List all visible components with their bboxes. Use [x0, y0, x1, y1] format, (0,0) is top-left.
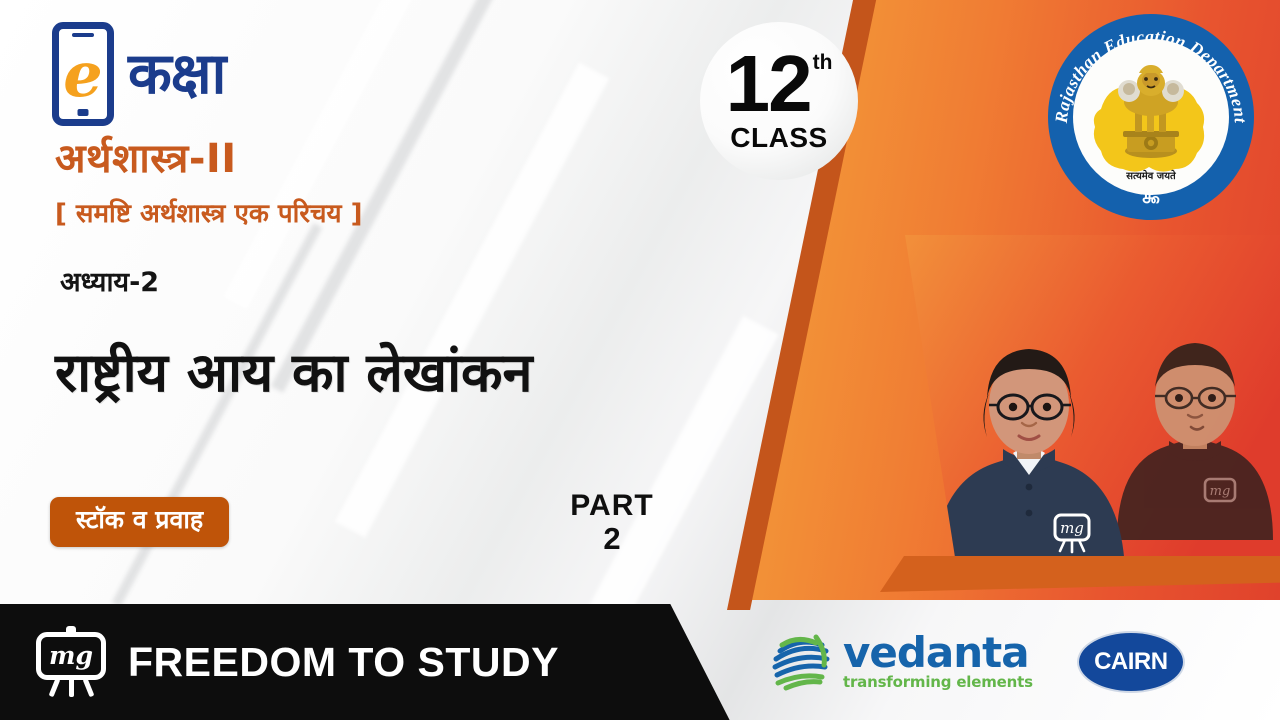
rajasthan-education-department-emblem: Rajasthan Education Department	[1048, 14, 1254, 220]
footer-tagline: FREEDOM TO STUDY	[128, 639, 559, 686]
svg-text:mg: mg	[1060, 519, 1084, 537]
mg-board-leg	[83, 678, 95, 697]
class-ordinal-suffix: th	[813, 52, 833, 73]
vedanta-tagline: transforming elements	[843, 673, 1033, 691]
class-number: 12	[726, 48, 811, 120]
vedanta-name: vedanta	[843, 633, 1033, 673]
class-word: CLASS	[730, 122, 827, 154]
brand-logo: e कक्षा	[52, 22, 225, 126]
vedanta-logo: vedanta transforming elements	[770, 631, 1033, 693]
cairn-logo: CAIRN	[1077, 631, 1185, 693]
footer-banner: mg FREEDOM TO STUDY	[0, 604, 760, 720]
page-title: राष्ट्रीय आय का लेखांकन	[55, 342, 533, 404]
cairn-name: CAIRN	[1094, 648, 1168, 676]
mg-board-leg	[49, 678, 61, 697]
class-number-row: 12 th	[726, 48, 833, 120]
brand-logo-letter: e	[63, 44, 102, 106]
thumbnail-canvas: mg	[0, 0, 1280, 720]
part-label: PART	[557, 490, 667, 522]
sponsor-logos: vedanta transforming elements CAIRN	[770, 604, 1280, 720]
brand-logo-word: कक्षा	[128, 46, 225, 103]
mg-logo-text: mg	[49, 643, 93, 668]
svg-text:mg: mg	[1210, 484, 1231, 499]
emblem-inner-disc: सत्यमेव जयते	[1073, 39, 1229, 195]
part-indicator: PART 2	[557, 490, 667, 556]
instructor-photo: mg	[905, 235, 1280, 570]
class-badge: 12 th CLASS	[700, 22, 858, 180]
chapter-label: अध्याय-2	[60, 268, 159, 298]
emblem-bottom-mark: ௯	[1142, 184, 1160, 211]
part-number: 2	[557, 522, 667, 556]
subject-subtitle: [ समष्टि अर्थशास्त्र एक परिचय ]	[55, 200, 363, 229]
topic-badge: स्टॉक व प्रवाह	[50, 497, 229, 547]
subject-title: अर्थशास्त्र-II	[55, 138, 237, 180]
vedanta-globe-icon	[770, 631, 832, 693]
emblem-motto: सत्यमेव जयते	[1126, 168, 1175, 182]
mg-board-icon: mg	[30, 626, 112, 698]
phone-icon: e	[52, 22, 114, 126]
mg-board-frame: mg	[36, 632, 106, 680]
mg-board-leg	[69, 678, 74, 697]
